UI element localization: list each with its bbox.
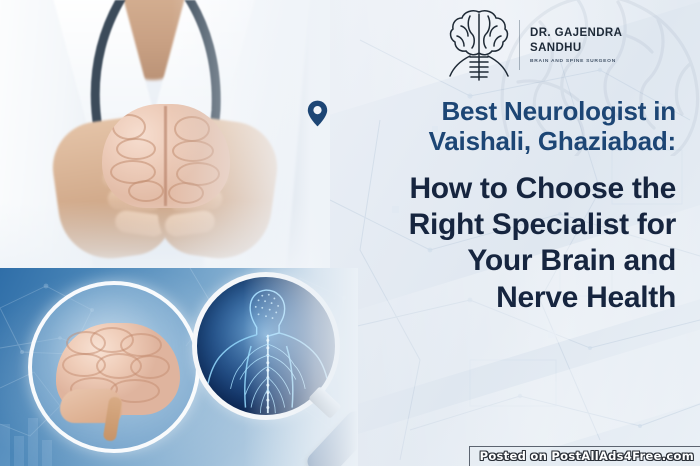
clinic-name: DR. GAJENDRA SANDHU [530, 26, 622, 54]
clinic-logo[interactable]: DR. GAJENDRA SANDHU BRAIN AND SPINE SURG… [448, 6, 622, 84]
headline-block: Best Neurologist in Vaishali, Ghaziabad:… [276, 96, 676, 316]
advertisement-banner: DR. GAJENDRA SANDHU BRAIN AND SPINE SURG… [0, 0, 700, 466]
headline-location-text: Best Neurologist in Vaishali, Ghaziabad: [429, 96, 676, 156]
logo-divider [519, 20, 520, 70]
headline-main: How to Choose the Right Specialist for Y… [276, 171, 676, 316]
brain-spine-icon [448, 6, 510, 84]
location-pin-icon [307, 100, 328, 127]
headline-location: Best Neurologist in Vaishali, Ghaziabad: [276, 96, 676, 157]
clinic-tagline: BRAIN AND SPINE SURGEON [530, 59, 622, 64]
source-watermark: Posted on PostAllAds4Free.com [469, 446, 700, 466]
